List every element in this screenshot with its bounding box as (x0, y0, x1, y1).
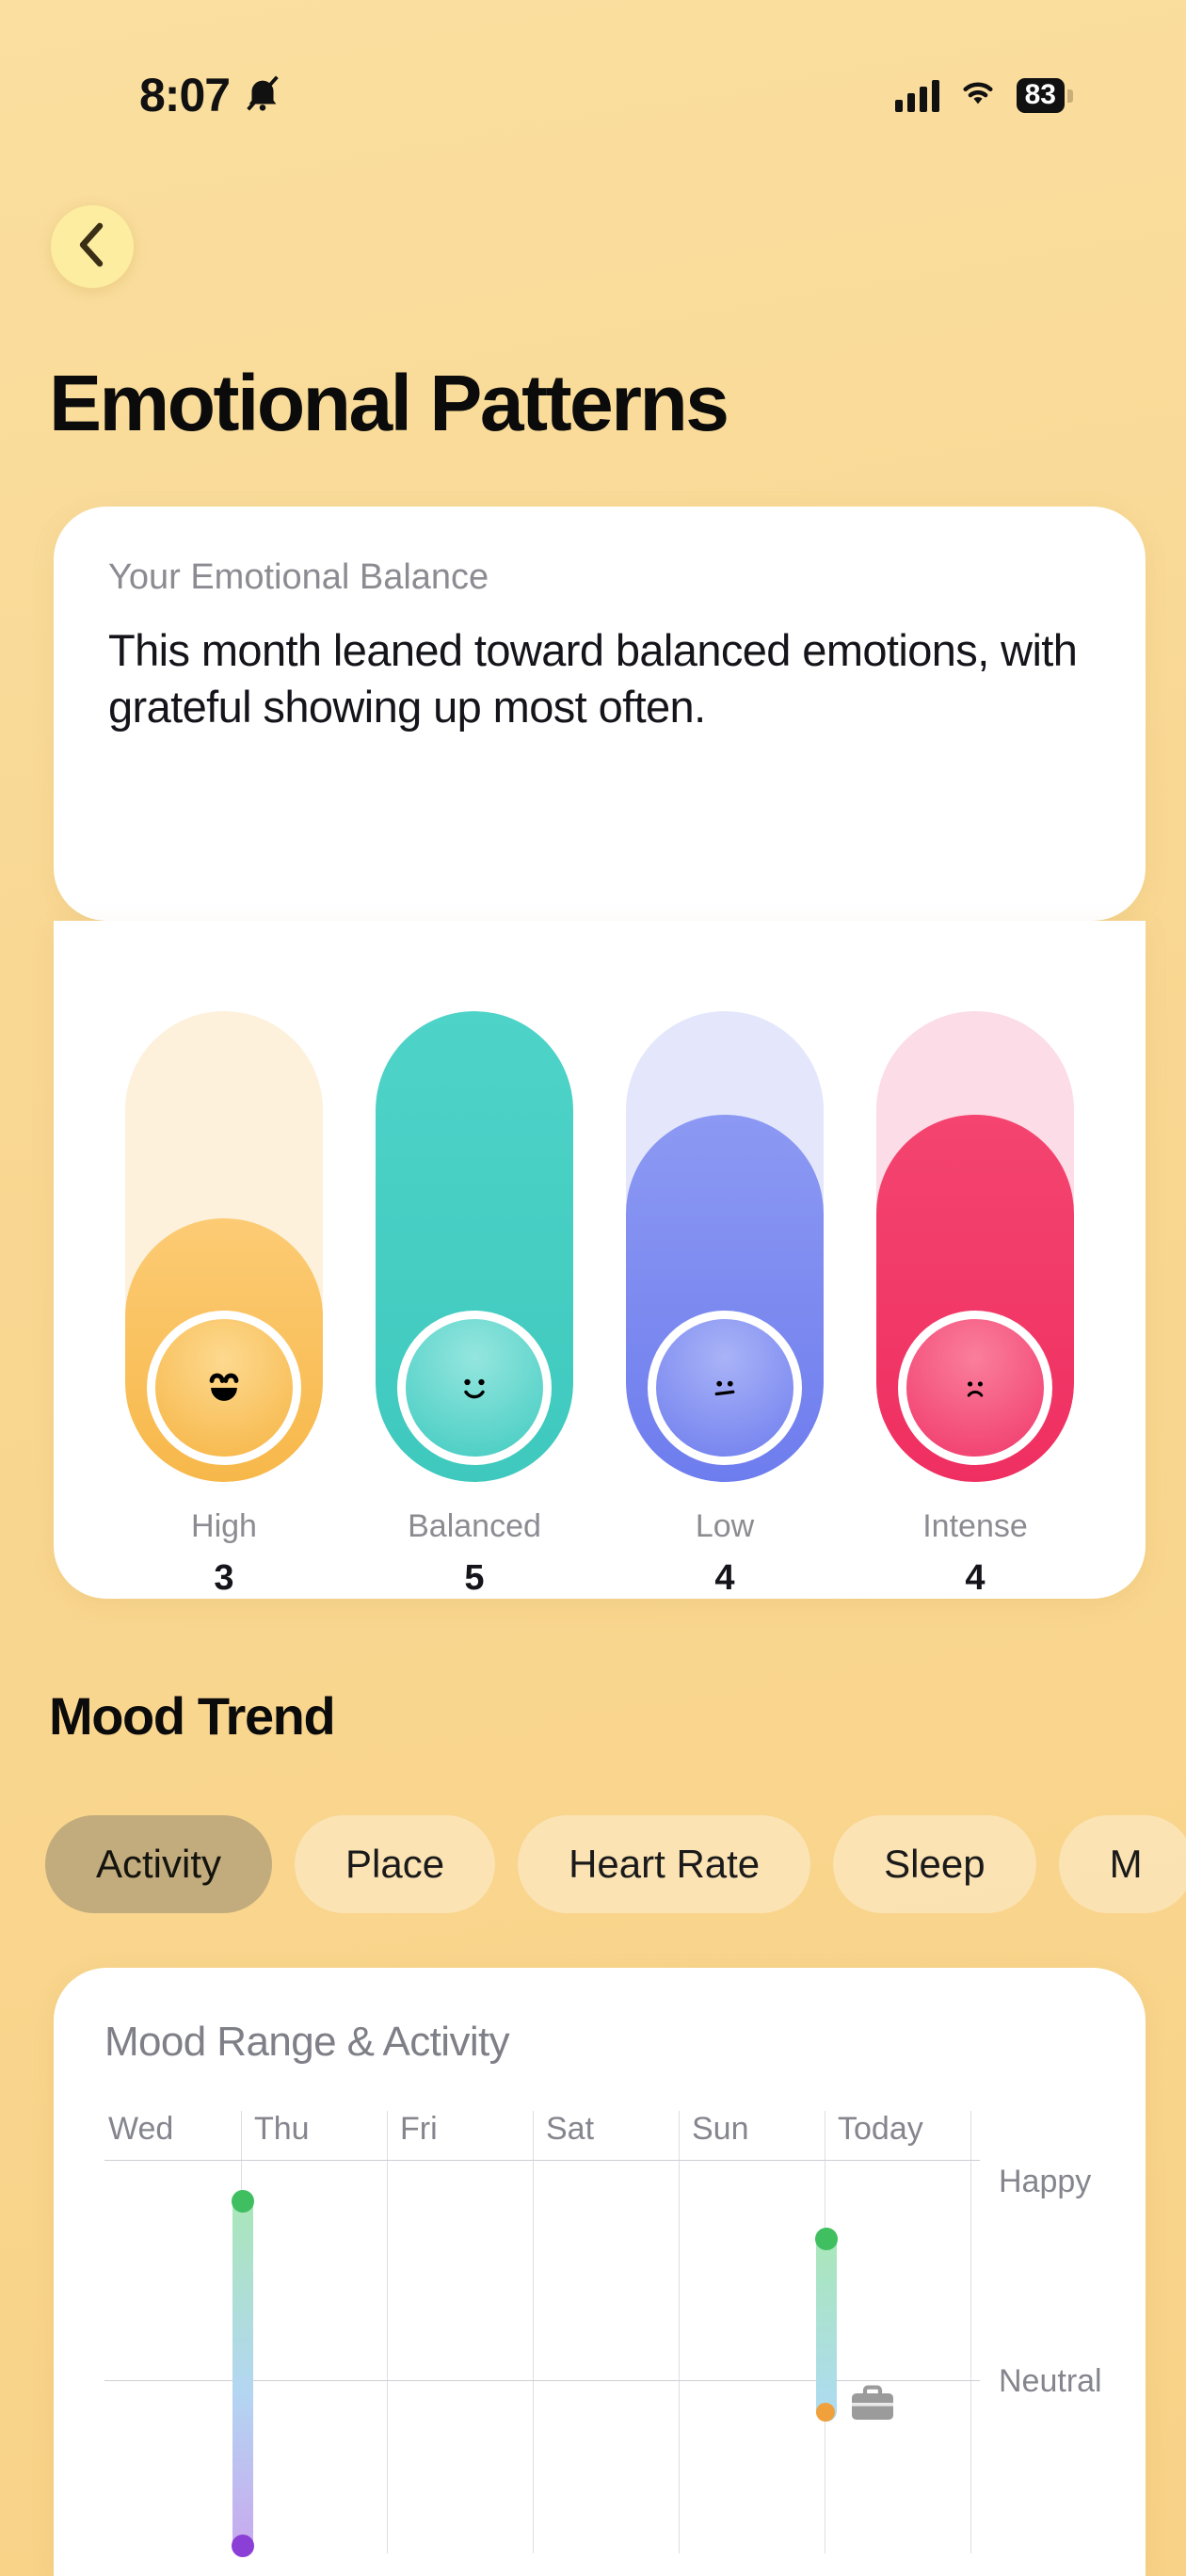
mood-count: 3 (214, 1558, 233, 1599)
mood-label: Intense (922, 1508, 1028, 1545)
wifi-icon (958, 77, 998, 114)
mood-column-intense[interactable]: Intense 4 (876, 1011, 1074, 1599)
chart-title: Mood Range & Activity (104, 2019, 1146, 2066)
mood-track (876, 1011, 1074, 1482)
briefcase-icon (848, 2382, 897, 2428)
mood-track (125, 1011, 323, 1482)
battery-percent: 83 (1017, 78, 1065, 113)
mood-label: High (191, 1508, 257, 1545)
mood-label: Balanced (408, 1508, 541, 1545)
y-label-neutral: Neutral (999, 2363, 1102, 2400)
status-bar-right: 83 (895, 77, 1073, 114)
chip-heart-rate[interactable]: Heart Rate (518, 1815, 810, 1913)
page-title: Emotional Patterns (49, 358, 727, 449)
mood-count: 4 (965, 1558, 985, 1599)
mood-track (376, 1011, 573, 1482)
mood-range-plot: Wed Thu Fri Sat Sun Today Happy Neutral (104, 2111, 1146, 2553)
mood-fill (876, 1115, 1074, 1482)
balance-card-label: Your Emotional Balance (108, 557, 1091, 598)
y-label-happy: Happy (999, 2164, 1091, 2200)
frowning-face-icon (898, 1311, 1052, 1465)
mood-label: Low (696, 1508, 754, 1545)
mood-column-balanced[interactable]: Balanced 5 (376, 1011, 573, 1599)
chip-place[interactable]: Place (295, 1815, 495, 1913)
mood-fill (376, 1011, 573, 1482)
bell-slash-icon (241, 72, 284, 120)
chip-more[interactable]: M (1059, 1815, 1186, 1913)
mood-distribution-chart: High 3 Balanced 5 (54, 921, 1146, 1599)
emotional-balance-card: Your Emotional Balance This month leaned… (54, 507, 1146, 921)
grinning-face-icon (147, 1311, 301, 1465)
back-button[interactable] (51, 205, 134, 288)
cellular-signal-icon (895, 80, 939, 112)
status-bar: 8:07 83 (0, 0, 1186, 141)
mood-count: 4 (714, 1558, 734, 1599)
balance-card-summary: This month leaned toward balanced emotio… (108, 622, 1091, 735)
mood-fill (626, 1115, 824, 1482)
chip-sleep[interactable]: Sleep (833, 1815, 1035, 1913)
mood-track (626, 1011, 824, 1482)
mood-trend-filter-chips[interactable]: Activity Place Heart Rate Sleep M (45, 1815, 1186, 1919)
mood-fill (125, 1218, 323, 1482)
mood-column-low[interactable]: Low 4 (626, 1011, 824, 1599)
mood-low-dot-thu (232, 2535, 254, 2557)
chip-activity[interactable]: Activity (45, 1815, 272, 1913)
battery-icon: 83 (1017, 78, 1073, 113)
mood-high-dot-today (815, 2228, 838, 2250)
smiling-face-icon (397, 1311, 552, 1465)
mood-count: 5 (464, 1558, 484, 1599)
mood-trend-heading: Mood Trend (49, 1685, 334, 1747)
chevron-left-icon (73, 220, 111, 274)
mood-low-dot-today (816, 2403, 835, 2422)
status-time: 8:07 (139, 68, 230, 122)
neutral-face-icon (648, 1311, 802, 1465)
mood-stem-thu (232, 2196, 253, 2553)
status-bar-left: 8:07 (139, 68, 284, 122)
mood-range-activity-card: Mood Range & Activity Wed Thu Fri Sat Su… (54, 1968, 1146, 2576)
mood-high-dot-thu (232, 2190, 254, 2213)
mood-stem-today (816, 2233, 837, 2422)
mood-column-high[interactable]: High 3 (125, 1011, 323, 1599)
